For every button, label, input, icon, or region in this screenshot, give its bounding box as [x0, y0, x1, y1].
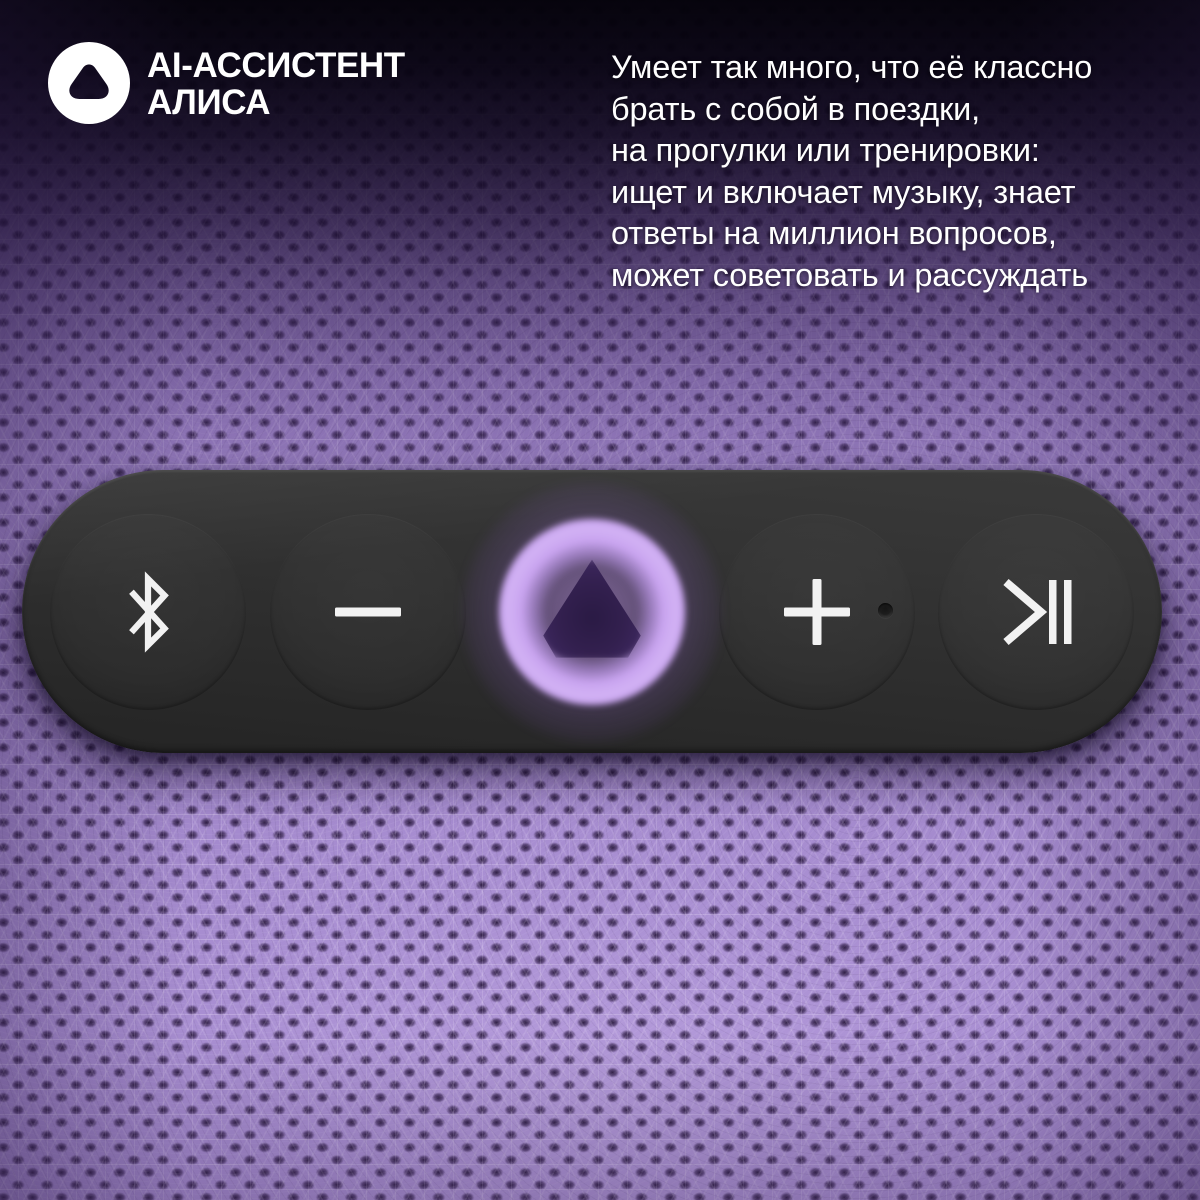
volume-down-button[interactable] [270, 514, 466, 710]
play-pause-icon [996, 574, 1076, 650]
brand-title: AI-АССИСТЕНТ АЛИСА [147, 47, 405, 122]
bluetooth-button[interactable] [50, 514, 246, 710]
plus-icon [780, 575, 854, 649]
play-pause-button[interactable] [938, 514, 1134, 710]
bluetooth-icon [111, 566, 185, 658]
description-text: Умеет так много, что её классно брать с … [611, 47, 1171, 296]
alice-circle-triangle-logo-icon [48, 42, 130, 124]
brand-logo-block: AI-АССИСТЕНТ АЛИСА [48, 40, 405, 124]
promo-image: AI-АССИСТЕНТ АЛИСА Умеет так много, что … [0, 0, 1200, 1200]
alice-button[interactable] [489, 509, 695, 715]
alice-ring-icon [499, 519, 685, 705]
minus-icon [331, 575, 405, 649]
microphone-pinhole-icon [878, 603, 893, 618]
speaker-control-bar [22, 470, 1162, 753]
